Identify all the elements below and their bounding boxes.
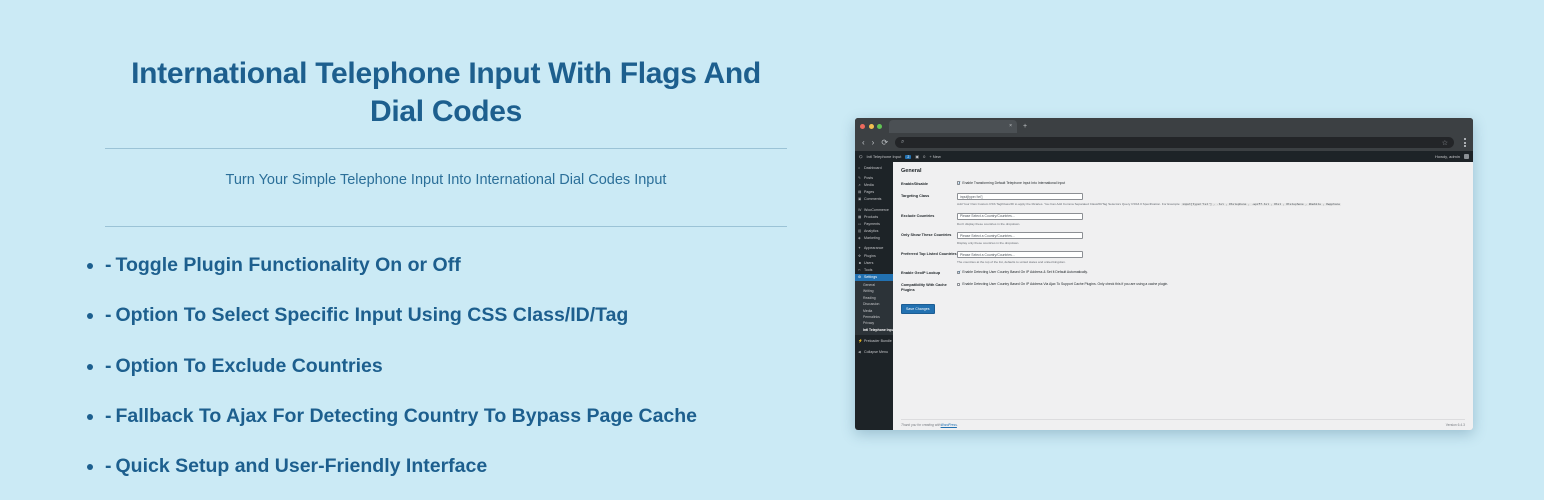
sidebar-item-collapse-menu[interactable]: ◀ Collapse Menu: [855, 348, 893, 355]
enable-disable-checkbox-row[interactable]: Enable Transforming Default Telephone In…: [957, 181, 1465, 185]
maximize-window-icon[interactable]: [877, 124, 882, 129]
sidebar-item-label: Plugins: [864, 254, 876, 258]
hint-code: input[type='tel'] , .tel , #telephone , …: [1181, 203, 1341, 206]
sidebar-item-tools[interactable]: ✂ Tools: [855, 266, 893, 273]
settings-submenu: General Writing Reading Discussion Media…: [855, 281, 893, 335]
admin-bar-comments-icon[interactable]: ▣: [915, 154, 919, 159]
divider-bottom: [105, 226, 787, 227]
sidebar-item-label: Tools: [864, 268, 872, 272]
wp-admin-menu: ⌂ Dashboard ✎ Posts ♬ Media ▤ Pages ▣: [855, 162, 893, 430]
only-show-countries-input[interactable]: Please Select a Country/Countries...: [957, 232, 1083, 239]
checkbox-label: Enable Transforming Default Telephone In…: [962, 181, 1065, 185]
hint-text: Add Your Own Custom CSS Tag/Class/ID to …: [957, 202, 1180, 206]
wp-version: Version 6.4.3: [1446, 423, 1465, 427]
address-bar[interactable]: ⌕ ☆: [895, 137, 1454, 148]
admin-bar-new-button[interactable]: + New: [929, 154, 940, 159]
sidebar-item-label: Appearance: [864, 246, 883, 250]
checkbox-label: Enable Detecting User Country Based On I…: [962, 270, 1087, 274]
sidebar-item-appearance[interactable]: ✦ Appearance: [855, 245, 893, 252]
field-label: Enable/Disable: [901, 181, 957, 187]
sidebar-item-label: Dashboard: [864, 166, 882, 170]
sidebar-item-posts[interactable]: ✎ Posts: [855, 174, 893, 181]
save-button[interactable]: Save Changes: [901, 304, 935, 314]
avatar[interactable]: [1464, 154, 1469, 159]
admin-bar-site-name[interactable]: Intl Telephone Input: [867, 154, 902, 159]
sidebar-item-marketing[interactable]: ◈ Marketing: [855, 235, 893, 242]
comment-icon: ▣: [858, 197, 862, 201]
admin-bar-updates-badge[interactable]: 2: [905, 155, 911, 159]
footer-suffix: .: [957, 423, 958, 427]
sidebar-item-analytics[interactable]: ▥ Analytics: [855, 228, 893, 235]
field-control: Please Select a Country/Countries... Dis…: [957, 232, 1465, 245]
sidebar-item-comments[interactable]: ▣ Comments: [855, 196, 893, 203]
wordpress-admin: ⌬ Intl Telephone Input 2 ▣ 0 + New Howdy…: [855, 151, 1473, 430]
admin-bar-howdy[interactable]: Howdy, admin: [1435, 154, 1460, 159]
wordpress-link[interactable]: WordPress: [941, 423, 957, 427]
page-icon: ▤: [858, 190, 862, 194]
list-item: -Toggle Plugin Functionality On or Off: [105, 253, 787, 277]
search-icon: ⌕: [901, 139, 904, 146]
sidebar-item-label: Users: [864, 261, 873, 265]
products-icon: ▦: [858, 215, 862, 219]
field-label: Preferred Top Listed Countries: [901, 251, 957, 264]
media-icon: ♬: [858, 183, 862, 187]
field-row-enable-disable: Enable/Disable Enable Transforming Defau…: [901, 181, 1465, 187]
settings-page-content: General Enable/Disable Enable Transformi…: [893, 162, 1473, 430]
page-subtitle: Turn Your Simple Telephone Input Into In…: [105, 149, 787, 210]
forward-icon[interactable]: ›: [872, 139, 875, 147]
cache-checkbox-row[interactable]: Enable Detecting User Country Based On I…: [957, 282, 1465, 286]
dashboard-icon: ⌂: [858, 166, 862, 170]
sidebar-item-label: Settings: [864, 275, 877, 279]
field-hint: Display only these countries in the drop…: [957, 241, 1465, 245]
sidebar-item-label: Pages: [864, 190, 874, 194]
admin-bar-comments-count: 0: [923, 154, 925, 159]
sidebar-item-media[interactable]: ♬ Media: [855, 181, 893, 188]
submenu-item-intl-telephone-input[interactable]: Intl Telephone Input: [855, 326, 893, 332]
list-item: -Option To Select Specific Input Using C…: [105, 303, 787, 327]
field-row-only-show-countries: Only Show These Countries Please Select …: [901, 232, 1465, 245]
minimize-window-icon[interactable]: [869, 124, 874, 129]
sidebar-item-label: Posts: [864, 176, 873, 180]
sidebar-item-label: Products: [864, 215, 878, 219]
appearance-icon: ✦: [858, 246, 862, 250]
bullet-dash: -: [105, 455, 112, 477]
checkbox-label: Enable Detecting User Country Based On I…: [962, 282, 1168, 286]
field-label: Compatibility With Cache Plugins: [901, 282, 957, 293]
wp-admin-body: ⌂ Dashboard ✎ Posts ♬ Media ▤ Pages ▣: [855, 162, 1473, 430]
field-control: input[type='tel'] Add Your Own Custom CS…: [957, 193, 1465, 207]
tools-icon: ✂: [858, 268, 862, 272]
bullet-dash: -: [105, 254, 112, 276]
woocommerce-icon: W: [858, 208, 862, 212]
sidebar-item-label: WooCommerce: [864, 208, 889, 212]
footer-text: Thank you for creating with: [901, 423, 941, 427]
back-icon[interactable]: ‹: [862, 139, 865, 147]
checkbox-icon[interactable]: [957, 271, 960, 274]
sidebar-item-label: Payments: [864, 222, 880, 226]
field-row-targeting-class: Targeting Class input[type='tel'] Add Yo…: [901, 193, 1465, 207]
preloader-icon: ⚡: [858, 339, 862, 343]
users-icon: ☻: [858, 261, 862, 265]
field-row-geoip-lookup: Enable GeoIP Lookup Enable Detecting Use…: [901, 270, 1465, 276]
sidebar-item-pages[interactable]: ▤ Pages: [855, 189, 893, 196]
preferred-countries-input[interactable]: Please Select a Country/Countries...: [957, 251, 1083, 258]
field-label: Only Show These Countries: [901, 232, 957, 245]
field-hint: Add Your Own Custom CSS Tag/Class/ID to …: [957, 202, 1465, 207]
field-label: Targeting Class: [901, 193, 957, 207]
feature-label: Toggle Plugin Functionality On or Off: [116, 254, 461, 276]
geoip-checkbox-row[interactable]: Enable Detecting User Country Based On I…: [957, 270, 1465, 274]
sidebar-item-label: Collapse Menu: [864, 350, 888, 354]
field-control: Please Select a Country/Countries... The…: [957, 251, 1465, 264]
promo-panel: International Telephone Input With Flags…: [105, 55, 787, 455]
sidebar-item-preloader-bundle[interactable]: ⚡ Preloader Bundle: [855, 338, 893, 345]
browser-menu-icon[interactable]: [1464, 138, 1466, 147]
collapse-icon: ◀: [858, 350, 862, 354]
feature-label: Option To Select Specific Input Using CS…: [116, 304, 629, 326]
exclude-countries-input[interactable]: Please Select a Country/Countries...: [957, 213, 1083, 220]
checkbox-icon[interactable]: [957, 283, 960, 286]
close-icon[interactable]: ×: [1009, 124, 1012, 129]
wp-admin-footer: Thank you for creating with WordPress. V…: [901, 419, 1465, 430]
field-label: Enable GeoIP Lookup: [901, 270, 957, 276]
field-hint: The countries at the top of the list, de…: [957, 260, 1465, 264]
field-control: Enable Transforming Default Telephone In…: [957, 181, 1465, 187]
sidebar-item-plugins[interactable]: ✜ Plugins: [855, 252, 893, 259]
targeting-class-input[interactable]: input[type='tel']: [957, 193, 1083, 200]
checkbox-icon[interactable]: [957, 181, 960, 184]
field-row-cache-compatibility: Compatibility With Cache Plugins Enable …: [901, 282, 1465, 293]
field-row-preferred-countries: Preferred Top Listed Countries Please Se…: [901, 251, 1465, 264]
pin-icon: ✎: [858, 176, 862, 180]
sidebar-item-woocommerce[interactable]: W WooCommerce: [855, 206, 893, 213]
bookmark-star-icon[interactable]: ☆: [1442, 139, 1448, 147]
sidebar-item-label: Comments: [864, 197, 881, 201]
sidebar-item-users[interactable]: ☻ Users: [855, 259, 893, 266]
section-title: General: [901, 168, 1465, 174]
reload-icon[interactable]: ⟳: [881, 139, 888, 147]
new-tab-icon[interactable]: +: [1023, 123, 1027, 130]
bullet-dash: -: [105, 405, 112, 427]
field-control: Enable Detecting User Country Based On I…: [957, 270, 1465, 276]
browser-tab-bar: × +: [855, 118, 1473, 134]
close-window-icon[interactable]: [860, 124, 865, 129]
feature-label: Fallback To Ajax For Detecting Country T…: [116, 405, 698, 427]
field-row-exclude-countries: Exclude Countries Please Select a Countr…: [901, 213, 1465, 226]
feature-list: -Toggle Plugin Functionality On or Off -…: [105, 253, 787, 479]
gear-icon: ⚙: [858, 275, 862, 279]
bullet-dash: -: [105, 355, 112, 377]
wp-logo-icon[interactable]: ⌬: [859, 154, 863, 159]
list-item: -Fallback To Ajax For Detecting Country …: [105, 404, 787, 428]
window-traffic-lights: [860, 124, 882, 129]
sidebar-item-label: Media: [864, 183, 874, 187]
feature-label: Quick Setup and User-Friendly Interface: [116, 455, 488, 477]
sidebar-item-label: Preloader Bundle: [864, 339, 892, 343]
page-title: International Telephone Input With Flags…: [105, 55, 787, 132]
plugins-icon: ✜: [858, 254, 862, 258]
sidebar-item-settings[interactable]: ⚙ Settings: [855, 274, 893, 281]
bullet-dash: -: [105, 304, 112, 326]
field-control: Please Select a Country/Countries... Don…: [957, 213, 1465, 226]
field-label: Exclude Countries: [901, 213, 957, 226]
feature-label: Option To Exclude Countries: [116, 355, 383, 377]
field-hint: Don't display these countries in the dro…: [957, 222, 1465, 226]
wp-admin-bar: ⌬ Intl Telephone Input 2 ▣ 0 + New Howdy…: [855, 151, 1473, 162]
payments-icon: ▭: [858, 222, 862, 226]
browser-window-mockup: × + ‹ › ⟳ ⌕ ☆ ⌬ Intl Telephone Input 2 ▣…: [855, 118, 1473, 430]
sidebar-item-payments[interactable]: ▭ Payments: [855, 220, 893, 227]
browser-tab[interactable]: ×: [889, 120, 1017, 133]
browser-nav-bar: ‹ › ⟳ ⌕ ☆: [855, 134, 1473, 151]
analytics-icon: ▥: [858, 229, 862, 233]
field-control: Enable Detecting User Country Based On I…: [957, 282, 1465, 293]
sidebar-item-dashboard[interactable]: ⌂ Dashboard: [855, 164, 893, 171]
sidebar-item-label: Analytics: [864, 229, 878, 233]
sidebar-item-products[interactable]: ▦ Products: [855, 213, 893, 220]
marketing-icon: ◈: [858, 236, 862, 240]
list-item: -Option To Exclude Countries: [105, 354, 787, 378]
sidebar-item-label: Marketing: [864, 236, 880, 240]
list-item: -Quick Setup and User-Friendly Interface: [105, 454, 787, 478]
